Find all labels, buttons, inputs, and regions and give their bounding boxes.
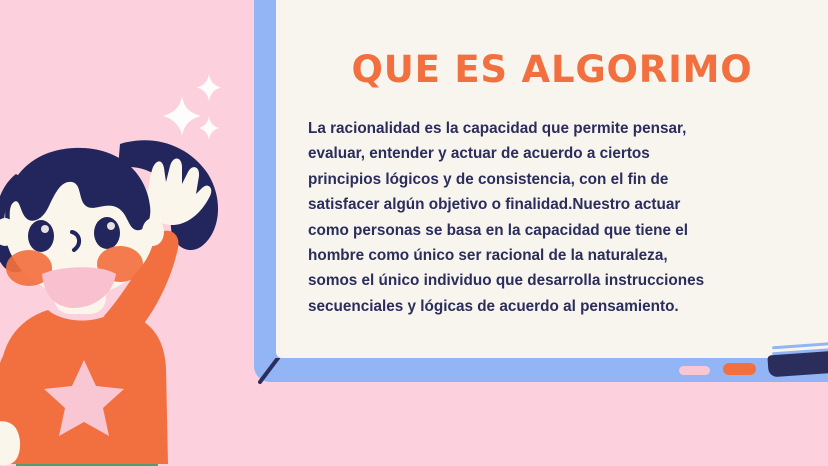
eye-highlight-left (41, 225, 49, 233)
body-line: hombre como único ser racional de la nat… (308, 243, 746, 268)
character-illustration (0, 128, 224, 466)
page-title: QUE ES ALGORIMO (276, 48, 828, 92)
body-line: principios lógicos y de consistencia, co… (308, 167, 746, 192)
body-line: evaluar, entender y actuar de acuerdo a … (308, 141, 746, 166)
body-line: La racionalidad es la capacidad que perm… (308, 116, 746, 141)
body-line: secuenciales y lógicas de acuerdo al pen… (308, 294, 746, 319)
board-corner-accent-icon (258, 358, 280, 384)
eye-highlight-right (107, 222, 115, 230)
body-line: como personas se basa en la capacidad qu… (308, 218, 746, 243)
body-line: somos el único individuo que desarrolla … (308, 268, 746, 293)
marker-tray[interactable] (767, 351, 828, 378)
body-line: satisfacer algún objetivo o finalidad.Nu… (308, 192, 746, 217)
eye-left (28, 220, 54, 252)
whiteboard-marker[interactable] (723, 363, 756, 375)
sparkle-icon (197, 74, 221, 101)
ear-right (142, 218, 164, 246)
body-paragraph: La racionalidad es la capacidad que perm… (308, 116, 746, 319)
eye-right (94, 217, 120, 249)
whiteboard-eraser[interactable] (679, 366, 710, 375)
slide-canvas: QUE ES ALGORIMO La racionalidad es la ca… (0, 0, 828, 466)
